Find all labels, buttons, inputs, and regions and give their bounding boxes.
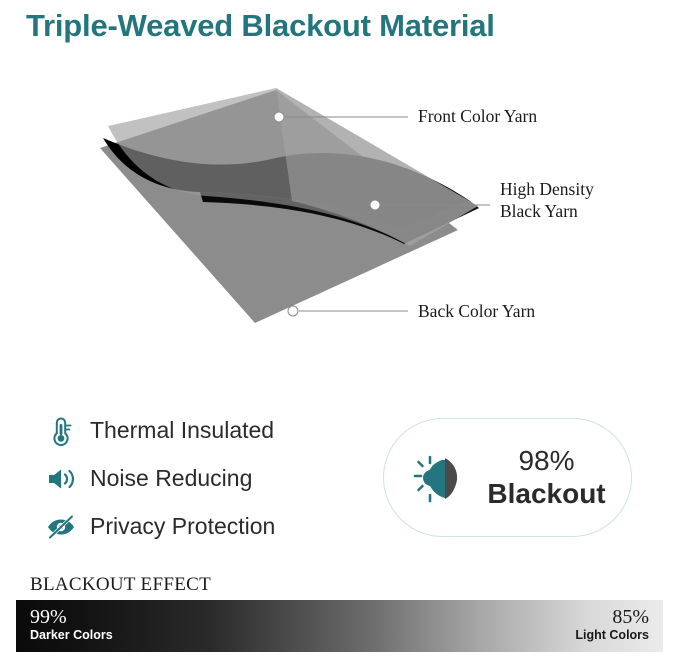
sun-blocked-icon xyxy=(410,450,466,506)
product-feature-graphic: Triple-Weaved Blackout Material xyxy=(0,0,679,656)
blackout-effect-left-caption: Darker Colors xyxy=(30,628,113,643)
thermometer-icon xyxy=(44,414,78,448)
eye-slash-icon xyxy=(44,510,78,544)
callout-label-high-density-line1: High Density xyxy=(500,179,594,201)
callout-back xyxy=(288,306,408,316)
blackout-badge: 98% Blackout xyxy=(383,418,632,537)
feature-label-noise: Noise Reducing xyxy=(90,465,252,492)
callout-label-high-density-line2: Black Yarn xyxy=(500,201,594,223)
fabric-layers-diagram: Front Color Yarn High Density Black Yarn… xyxy=(0,62,679,362)
callout-label-back: Back Color Yarn xyxy=(418,301,535,323)
blackout-word: Blackout xyxy=(487,478,605,509)
blackout-effect-right-percent: 85% xyxy=(575,606,649,628)
blackout-effect-right-caption: Light Colors xyxy=(575,628,649,643)
feature-label-thermal: Thermal Insulated xyxy=(90,417,274,444)
feature-item-noise: Noise Reducing xyxy=(44,456,374,501)
blackout-percent: 98% xyxy=(518,445,574,476)
callout-label-high-density: High Density Black Yarn xyxy=(500,179,594,223)
feature-list: Thermal Insulated Noise Reducing xyxy=(44,408,374,552)
blackout-effect-left-group: 99% Darker Colors xyxy=(30,606,113,643)
blackout-badge-text: 98% Blackout xyxy=(476,445,631,509)
page-title: Triple-Weaved Blackout Material xyxy=(26,8,495,44)
blackout-effect-left-percent: 99% xyxy=(30,606,113,628)
blackout-effect-right-group: 85% Light Colors xyxy=(575,606,649,643)
callout-label-front: Front Color Yarn xyxy=(418,106,537,128)
blackout-effect-heading: BLACKOUT EFFECT xyxy=(30,574,211,596)
blackout-effect-gradient-strip: 99% Darker Colors 85% Light Colors xyxy=(16,600,663,652)
feature-item-thermal: Thermal Insulated xyxy=(44,408,374,453)
feature-label-privacy: Privacy Protection xyxy=(90,513,275,540)
speaker-sound-icon xyxy=(44,462,78,496)
feature-item-privacy: Privacy Protection xyxy=(44,504,374,549)
